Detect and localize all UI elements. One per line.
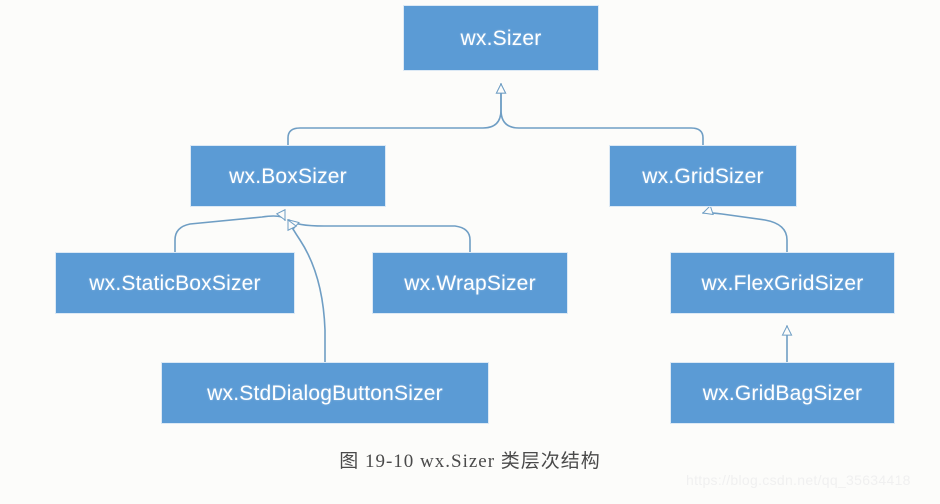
node-label: wx.FlexGridSizer	[702, 273, 864, 294]
class-hierarchy-diagram: wx.Sizer wx.BoxSizer wx.GridSizer wx.Sta…	[0, 0, 940, 504]
edge-gridsizer-to-sizer	[501, 84, 703, 145]
node-wx-stddialogbuttonsizer[interactable]: wx.StdDialogButtonSizer	[161, 362, 489, 424]
node-label: wx.StdDialogButtonSizer	[207, 383, 443, 404]
node-label: wx.GridSizer	[642, 166, 763, 187]
node-wx-staticboxsizer[interactable]: wx.StaticBoxSizer	[55, 252, 295, 314]
node-wx-gridbagsizer[interactable]: wx.GridBagSizer	[670, 362, 895, 424]
figure-caption: 图 19-10 wx.Sizer 类层次结构	[0, 446, 940, 473]
node-label: wx.GridBagSizer	[703, 383, 862, 404]
node-wx-flexgridsizer[interactable]: wx.FlexGridSizer	[670, 252, 895, 314]
watermark: https://blog.csdn.net/qq_35634418	[686, 472, 911, 488]
node-wx-wrapsizer[interactable]: wx.WrapSizer	[372, 252, 568, 314]
node-wx-gridsizer[interactable]: wx.GridSizer	[609, 145, 797, 207]
edge-boxsizer-to-sizer	[288, 84, 501, 145]
node-label: wx.Sizer	[461, 28, 542, 49]
edge-flexgridsizer-to-gridsizer	[703, 213, 787, 252]
node-wx-boxsizer[interactable]: wx.BoxSizer	[190, 145, 386, 207]
edge-wrapsizer-to-boxsizer	[289, 220, 470, 252]
edge-staticboxsizer-to-boxsizer	[175, 216, 285, 252]
node-label: wx.StaticBoxSizer	[89, 273, 260, 294]
node-label: wx.BoxSizer	[229, 166, 347, 187]
node-wx-sizer[interactable]: wx.Sizer	[403, 5, 599, 71]
node-label: wx.WrapSizer	[404, 273, 536, 294]
